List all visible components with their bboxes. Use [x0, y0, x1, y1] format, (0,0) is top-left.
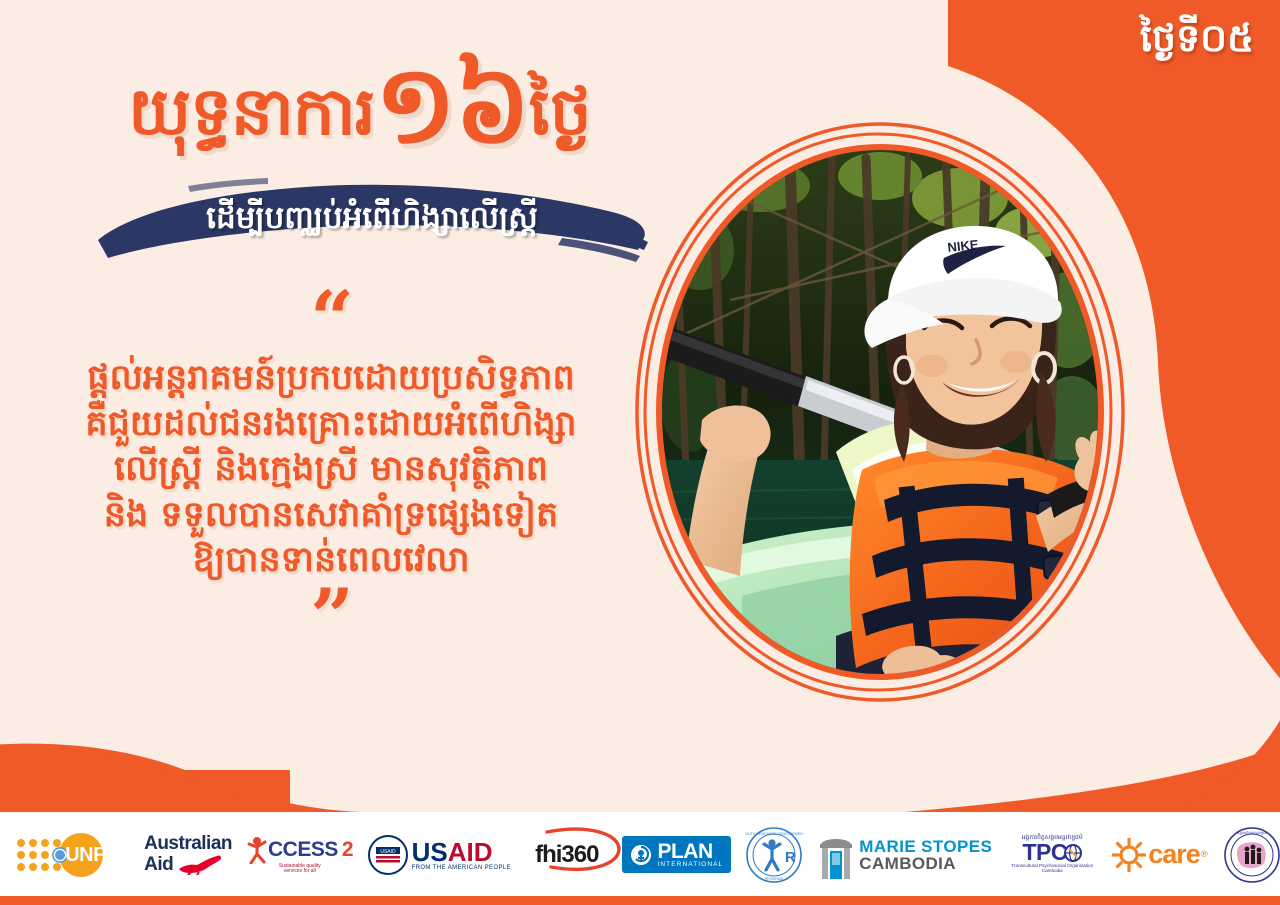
svg-text:PROGRAM: PROGRAM: [765, 877, 784, 881]
doorway-icon: [817, 831, 855, 879]
care-sun-icon: [1112, 838, 1146, 872]
logo-marie-stopes: MARIE STOPES CAMBODIA: [817, 826, 992, 884]
quote-line: គឺជួយដល់ជនរងគ្រោះដោយអំពើហិង្សា: [18, 402, 644, 448]
logo-cdpo: អង្គការពិការភាពកម្ពុជា អង្គការពិការភាពកម…: [1223, 826, 1280, 884]
logo-australian-aid-line1: Australian: [144, 834, 232, 853]
logo-tpc: អង្គការចិត្តសង្គមអន្តរវប្បធម៌ TPC Transc…: [1006, 826, 1098, 884]
logo-marie-stopes-line1: MARIE STOPES: [859, 838, 992, 855]
plan-globe-icon: [630, 844, 652, 866]
day-badge: ថ្ងៃទី០៥: [1140, 14, 1254, 70]
headline-word-before: យុទ្ធនាការ: [128, 73, 374, 150]
logo-usaid-sub: FROM THE AMERICAN PEOPLE: [412, 865, 512, 871]
kangaroo-icon: [177, 853, 223, 875]
logo-tpc-word: TPC: [1023, 841, 1068, 864]
logo-fhi360: fhi360: [525, 826, 608, 884]
headline-number: ១៦: [375, 43, 529, 168]
logo-care: care ®: [1112, 826, 1209, 884]
partner-logo-bar: ក្រសួងកិច្ចការនារី MINISTRY OF WOMEN'S A…: [0, 812, 1280, 905]
quote-text: ផ្តល់អន្តរាគមន៍ប្រកបដោយប្រសិទ្ធភាព គឺជួយ…: [18, 356, 644, 584]
poster-canvas: NIKE ថ្ងៃទី០៥ យុទ្ធនាការ១៦ថ្ងៃ ដើម្បីបញ្…: [0, 0, 1280, 905]
logo-care-text: care: [1148, 841, 1200, 868]
svg-text:USAID: USAID: [380, 849, 396, 855]
logo-plan-word: PLAN: [657, 841, 723, 862]
logo-access2-sub2: services for all: [284, 869, 316, 874]
logo-yrdp: R YOUTH RESOURCE DEVELOPMENT PROGRAM YR: [745, 826, 803, 884]
logo-access2: CCESS 2 Sustainable quality services for…: [246, 826, 354, 884]
logo-fhi360-text: fhi360: [525, 843, 608, 867]
subtitle-banner: ដើម្បីបញ្ឈប់អំពើហិង្សាលើស្ត្រី: [92, 176, 652, 268]
logo-usaid: USAID USAID FROM THE AMERICAN PEOPLE: [368, 826, 512, 884]
logo-unfpa: UNFPA: [13, 826, 130, 884]
logo-access2-text: CCESS: [268, 839, 338, 860]
logo-marie-stopes-line2: CAMBODIA: [859, 855, 992, 872]
logo-plan-international: PLAN INTERNATIONAL: [622, 826, 731, 884]
quote-block: “ ផ្តល់អន្តរាគមន៍ប្រកបដោយប្រសិទ្ធភាព គឺជ…: [18, 300, 644, 650]
logo-unfpa-text: UNFPA: [65, 845, 130, 865]
person-icon: [246, 836, 268, 864]
logo-usaid-us: US: [412, 837, 448, 867]
quote-open-icon: “: [18, 300, 644, 338]
subtitle-text: ដើម្បីបញ្ឈប់អំពើហិង្សាលើស្ត្រី: [92, 176, 652, 268]
logo-usaid-aid: AID: [448, 837, 493, 867]
logo-tpc-sub: Transcultural Psychosocial Organization …: [1006, 864, 1098, 873]
logo-australian-aid: Australian Aid: [144, 826, 232, 884]
bottom-accent-stripe: [0, 896, 1280, 905]
logo-access2-number: 2: [342, 839, 354, 860]
quote-line: ផ្តល់អន្តរាគមន៍ប្រកបដោយប្រសិទ្ធភាព: [18, 356, 644, 402]
headline-word-after: ថ្ងៃ: [529, 73, 592, 150]
logo-plan-sub: INTERNATIONAL: [657, 862, 723, 869]
usaid-seal-icon: USAID: [368, 835, 408, 875]
svg-text:YOUTH RESOURCE DEVELOPMENT: YOUTH RESOURCE DEVELOPMENT: [745, 832, 803, 836]
page-title: យុទ្ធនាការ១៦ថ្ងៃ: [60, 52, 660, 160]
quote-close-icon: ”: [18, 598, 644, 650]
quote-line: និង ទទួលបានសេវាគាំទ្រផ្សេងទៀត: [18, 493, 644, 539]
globe-icon: [1064, 844, 1082, 862]
logo-australian-aid-line2: Aid: [144, 855, 173, 874]
quote-line: លើស្ត្រី និងក្មេងស្រី មានសុវត្ថិភាព: [18, 447, 644, 493]
svg-text:R: R: [785, 849, 796, 866]
